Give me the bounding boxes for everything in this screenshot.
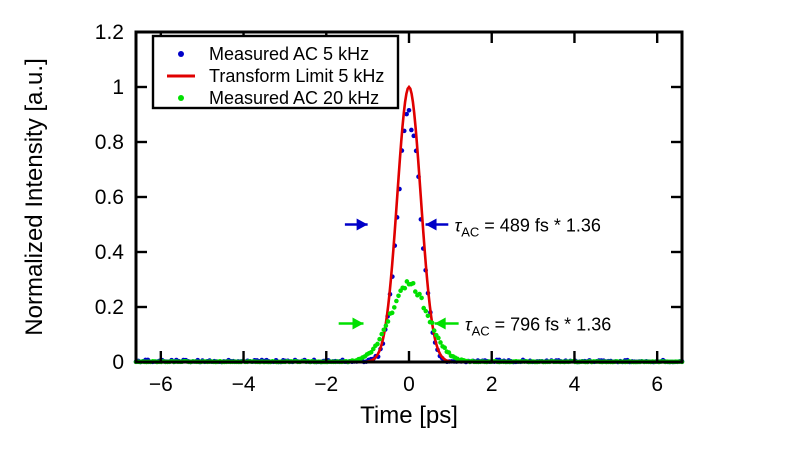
data-point bbox=[424, 309, 429, 314]
legend-label: Transform Limit 5 kHz bbox=[209, 66, 384, 86]
data-point bbox=[407, 108, 412, 113]
arrow-right-head bbox=[426, 219, 437, 231]
tau-ac-green-text: τAC = 796 fs * 1.36 bbox=[465, 315, 611, 339]
y-tick-label: 1.2 bbox=[95, 21, 124, 44]
y-tick-label: 0 bbox=[112, 351, 124, 374]
data-point bbox=[409, 128, 414, 133]
autocorrelation-figure: −6−4−2024600.20.40.60.811.2Time [ps]Norm… bbox=[0, 0, 800, 451]
data-point bbox=[375, 342, 380, 347]
legend-item-2: Measured AC 20 kHz bbox=[178, 88, 379, 108]
data-point bbox=[403, 286, 408, 291]
data-point bbox=[377, 337, 382, 342]
data-point bbox=[390, 311, 395, 316]
legend-label: Measured AC 5 kHz bbox=[209, 44, 369, 64]
arrow-right-head bbox=[435, 318, 446, 330]
x-tick-label: −4 bbox=[232, 373, 256, 396]
legend-dot-swatch bbox=[178, 51, 184, 57]
data-point bbox=[386, 319, 391, 324]
legend-dot-swatch bbox=[178, 95, 184, 101]
data-point bbox=[411, 281, 416, 286]
data-point bbox=[382, 327, 387, 332]
legend: Measured AC 5 kHzTransform Limit 5 kHzMe… bbox=[153, 36, 398, 108]
data-point bbox=[432, 328, 437, 333]
annotations-layer: τAC = 489 fs * 1.36τAC = 796 fs * 1.36 bbox=[339, 216, 612, 339]
data-point bbox=[384, 323, 389, 328]
x-tick-label: 4 bbox=[569, 373, 581, 396]
data-point bbox=[419, 296, 424, 301]
data-point bbox=[379, 332, 384, 337]
x-tick-label: −2 bbox=[314, 373, 338, 396]
data-point bbox=[396, 293, 401, 298]
data-point bbox=[392, 305, 397, 310]
data-point bbox=[426, 313, 431, 318]
y-tick-label: 0.4 bbox=[95, 241, 125, 264]
x-tick-label: −6 bbox=[149, 373, 173, 396]
data-point bbox=[442, 345, 447, 350]
y-axis-label: Normalized Intensity [a.u.] bbox=[21, 58, 48, 335]
x-tick-label: 2 bbox=[486, 373, 498, 396]
x-tick-label: 6 bbox=[651, 373, 663, 396]
y-tick-label: 1 bbox=[112, 76, 124, 99]
tau-ac-blue-text: τAC = 489 fs * 1.36 bbox=[455, 216, 601, 240]
x-tick-label: 0 bbox=[403, 373, 415, 396]
data-point bbox=[436, 336, 441, 341]
y-tick-label: 0.8 bbox=[95, 131, 124, 154]
data-point bbox=[394, 299, 399, 304]
legend-label: Measured AC 20 kHz bbox=[209, 88, 379, 108]
data-point bbox=[417, 292, 422, 297]
arrow-left-head bbox=[353, 318, 364, 330]
data-point bbox=[430, 321, 435, 326]
arrow-left-head bbox=[357, 219, 368, 231]
y-tick-label: 0.2 bbox=[95, 296, 124, 319]
data-point bbox=[438, 340, 443, 345]
tau-ac-blue: τAC = 489 fs * 1.36 bbox=[345, 216, 601, 240]
plot-canvas: −6−4−2024600.20.40.60.811.2Time [ps]Norm… bbox=[0, 0, 800, 451]
x-axis-label: Time [ps] bbox=[360, 402, 458, 429]
y-tick-label: 0.6 bbox=[95, 186, 124, 209]
